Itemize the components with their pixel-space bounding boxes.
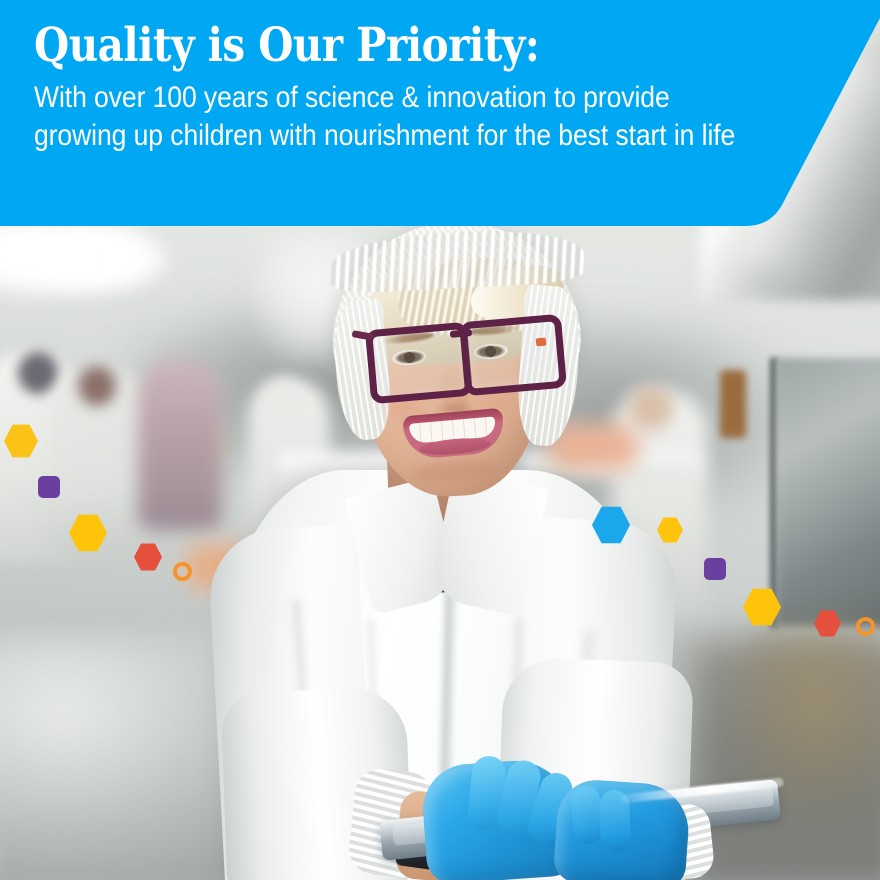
- banner-copy: Quality is Our Priority: With over 100 y…: [34, 22, 774, 156]
- square-purple-1: [38, 476, 60, 498]
- ring-orange-1: [173, 562, 192, 581]
- square-purple-2: [704, 558, 726, 580]
- banner-subtitle: With over 100 years of science & innovat…: [34, 79, 768, 156]
- eyeglasses-lens-right: [459, 314, 567, 397]
- page-title: Quality is Our Priority:: [34, 22, 670, 71]
- ring-orange-2: [856, 617, 875, 636]
- eyeglasses-hinge: [536, 338, 547, 347]
- promotional-poster: Quality is Our Priority: With over 100 y…: [0, 0, 880, 880]
